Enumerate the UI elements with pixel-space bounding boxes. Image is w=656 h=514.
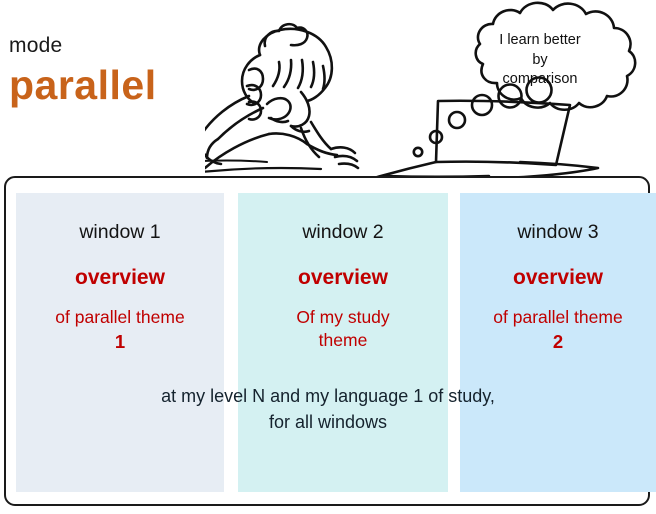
window-2-subtitle-line-1: Of my study — [242, 306, 444, 329]
thought-bubble-text: I learn better by comparison — [466, 31, 614, 90]
window-1-title: window 1 — [16, 221, 224, 244]
window-2-heading: overview — [238, 266, 448, 290]
window-2-title: window 2 — [238, 221, 448, 244]
window-3-subtitle: of parallel theme 2 — [460, 306, 656, 354]
window-1-subtitle-line-1: of parallel theme — [20, 306, 220, 329]
window-3-title: window 3 — [460, 221, 656, 244]
window-3-subtitle-line-1: of parallel theme — [464, 306, 652, 329]
window-column-3[interactable]: window 3 overview of parallel theme 2 — [460, 193, 656, 492]
window-2-subtitle: Of my study theme — [238, 306, 448, 352]
window-3-subtitle-line-2: 2 — [464, 330, 652, 354]
window-1-subtitle-line-2: 1 — [20, 330, 220, 354]
window-1-heading: overview — [16, 266, 224, 290]
thought-bubble-line-1: I learn better — [466, 31, 614, 51]
mode-value: parallel — [9, 62, 157, 109]
thought-bubble-line-2: by — [466, 51, 614, 71]
mode-label: mode — [9, 34, 62, 58]
windows-container: window 1 overview of parallel theme 1 wi… — [16, 193, 640, 492]
window-column-1[interactable]: window 1 overview of parallel theme 1 — [16, 193, 224, 492]
window-column-2[interactable]: window 2 overview Of my study theme — [238, 193, 448, 492]
thought-bubble-line-3: comparison — [466, 70, 614, 90]
window-2-subtitle-line-2: theme — [242, 329, 444, 352]
window-1-subtitle: of parallel theme 1 — [16, 306, 224, 354]
slide-canvas: mode parallel — [0, 0, 656, 514]
window-3-heading: overview — [460, 266, 656, 290]
